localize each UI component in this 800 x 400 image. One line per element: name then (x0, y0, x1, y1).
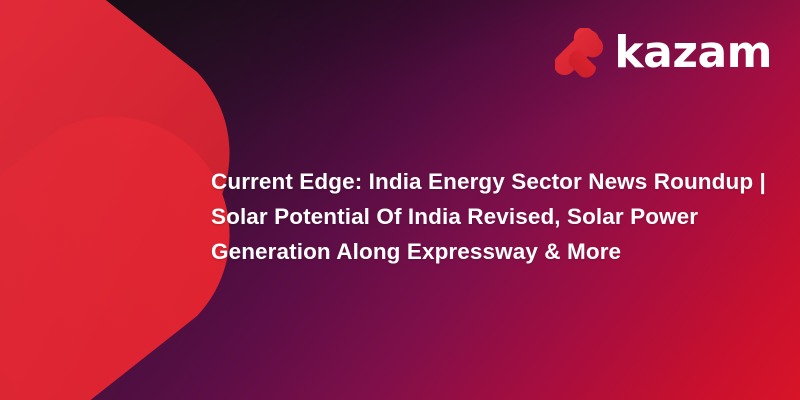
headline-line-1: Current Edge: India Energy Sector News R… (211, 164, 771, 199)
kazam-wordmark: kazam (614, 31, 772, 75)
kazam-logo[interactable]: kazam (555, 27, 772, 79)
headline-line-3: Generation Along Expressway & More (211, 234, 771, 269)
headline-line-2: Solar Potential Of India Revised, Solar … (211, 199, 771, 234)
article-headline: Current Edge: India Energy Sector News R… (211, 164, 771, 269)
kazam-chevron-mark-icon (555, 28, 603, 78)
article-banner: kazam Current Edge: India Energy Sector … (0, 0, 800, 400)
